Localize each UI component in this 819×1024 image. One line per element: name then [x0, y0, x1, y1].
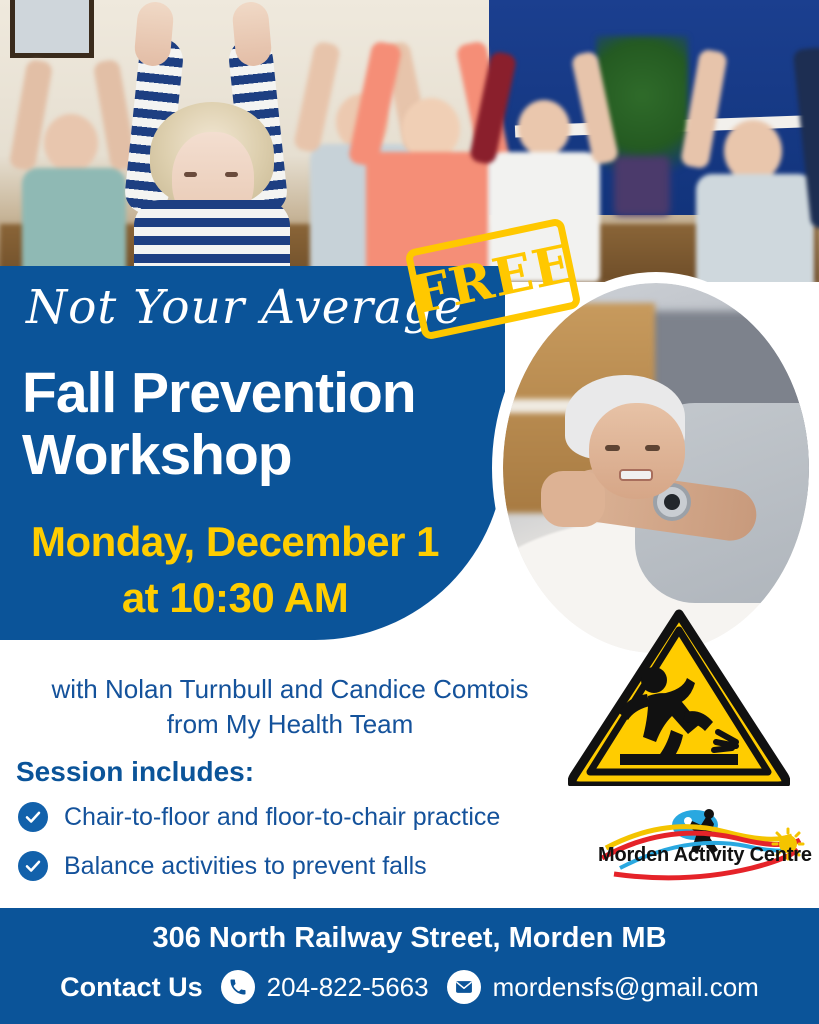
photo-wall-picture-frame	[10, 0, 94, 58]
presenters: with Nolan Turnbull and Candice Comtois …	[0, 672, 580, 742]
script-subtitle: Not Your Average	[26, 280, 463, 335]
footer-contact-bar: 306 North Railway Street, Morden MB Cont…	[0, 908, 819, 1024]
event-date: Monday, December 1	[0, 514, 470, 570]
contact-row: Contact Us 204-822-5663 mordensfs@gmail.…	[0, 970, 819, 1004]
fallen-senior-photo	[492, 272, 819, 664]
event-datetime: Monday, December 1 at 10:30 AM	[0, 514, 470, 626]
logo-text: Morden Activity Centre	[598, 844, 798, 867]
session-item-label: Balance activities to prevent falls	[64, 852, 427, 881]
photo-hand	[541, 471, 605, 527]
free-badge-label: FREE	[407, 232, 580, 326]
session-item: Balance activities to prevent falls	[18, 851, 427, 881]
phone-icon	[221, 970, 255, 1004]
poster-title: Fall Prevention Workshop	[22, 362, 416, 486]
hand-right	[231, 1, 272, 68]
fallen-senior-photo-inner	[503, 283, 809, 653]
session-item: Chair-to-floor and floor-to-chair practi…	[18, 802, 500, 832]
photo-featured-woman	[88, 24, 338, 282]
presenters-line1: with Nolan Turnbull and Candice Comtois	[0, 672, 580, 707]
contact-label: Contact Us	[60, 972, 203, 1003]
slip-hazard-warning-icon	[568, 608, 790, 786]
email-contact[interactable]: mordensfs@gmail.com	[447, 970, 759, 1004]
phone-contact[interactable]: 204-822-5663	[221, 970, 429, 1004]
seniors-exercise-class-photo	[0, 0, 819, 282]
venue-address: 306 North Railway Street, Morden MB	[0, 922, 819, 955]
check-icon	[18, 851, 48, 881]
presenters-line2: from My Health Team	[0, 707, 580, 742]
poster-title-line1: Fall Prevention	[22, 362, 416, 424]
session-item-label: Chair-to-floor and floor-to-chair practi…	[64, 803, 500, 832]
fall-prevention-workshop-poster: Not Your Average Fall Prevention Worksho…	[0, 0, 819, 1024]
morden-activity-centre-logo: Morden Activity Centre	[596, 806, 808, 890]
phone-number: 204-822-5663	[267, 972, 429, 1003]
event-time: at 10:30 AM	[0, 570, 470, 626]
poster-title-line2: Workshop	[22, 424, 416, 486]
photo-face	[589, 403, 685, 499]
photo-participant-right	[690, 58, 819, 282]
check-icon	[18, 802, 48, 832]
session-includes-heading: Session includes:	[16, 756, 254, 788]
email-address: mordensfs@gmail.com	[493, 972, 759, 1003]
envelope-icon	[447, 970, 481, 1004]
